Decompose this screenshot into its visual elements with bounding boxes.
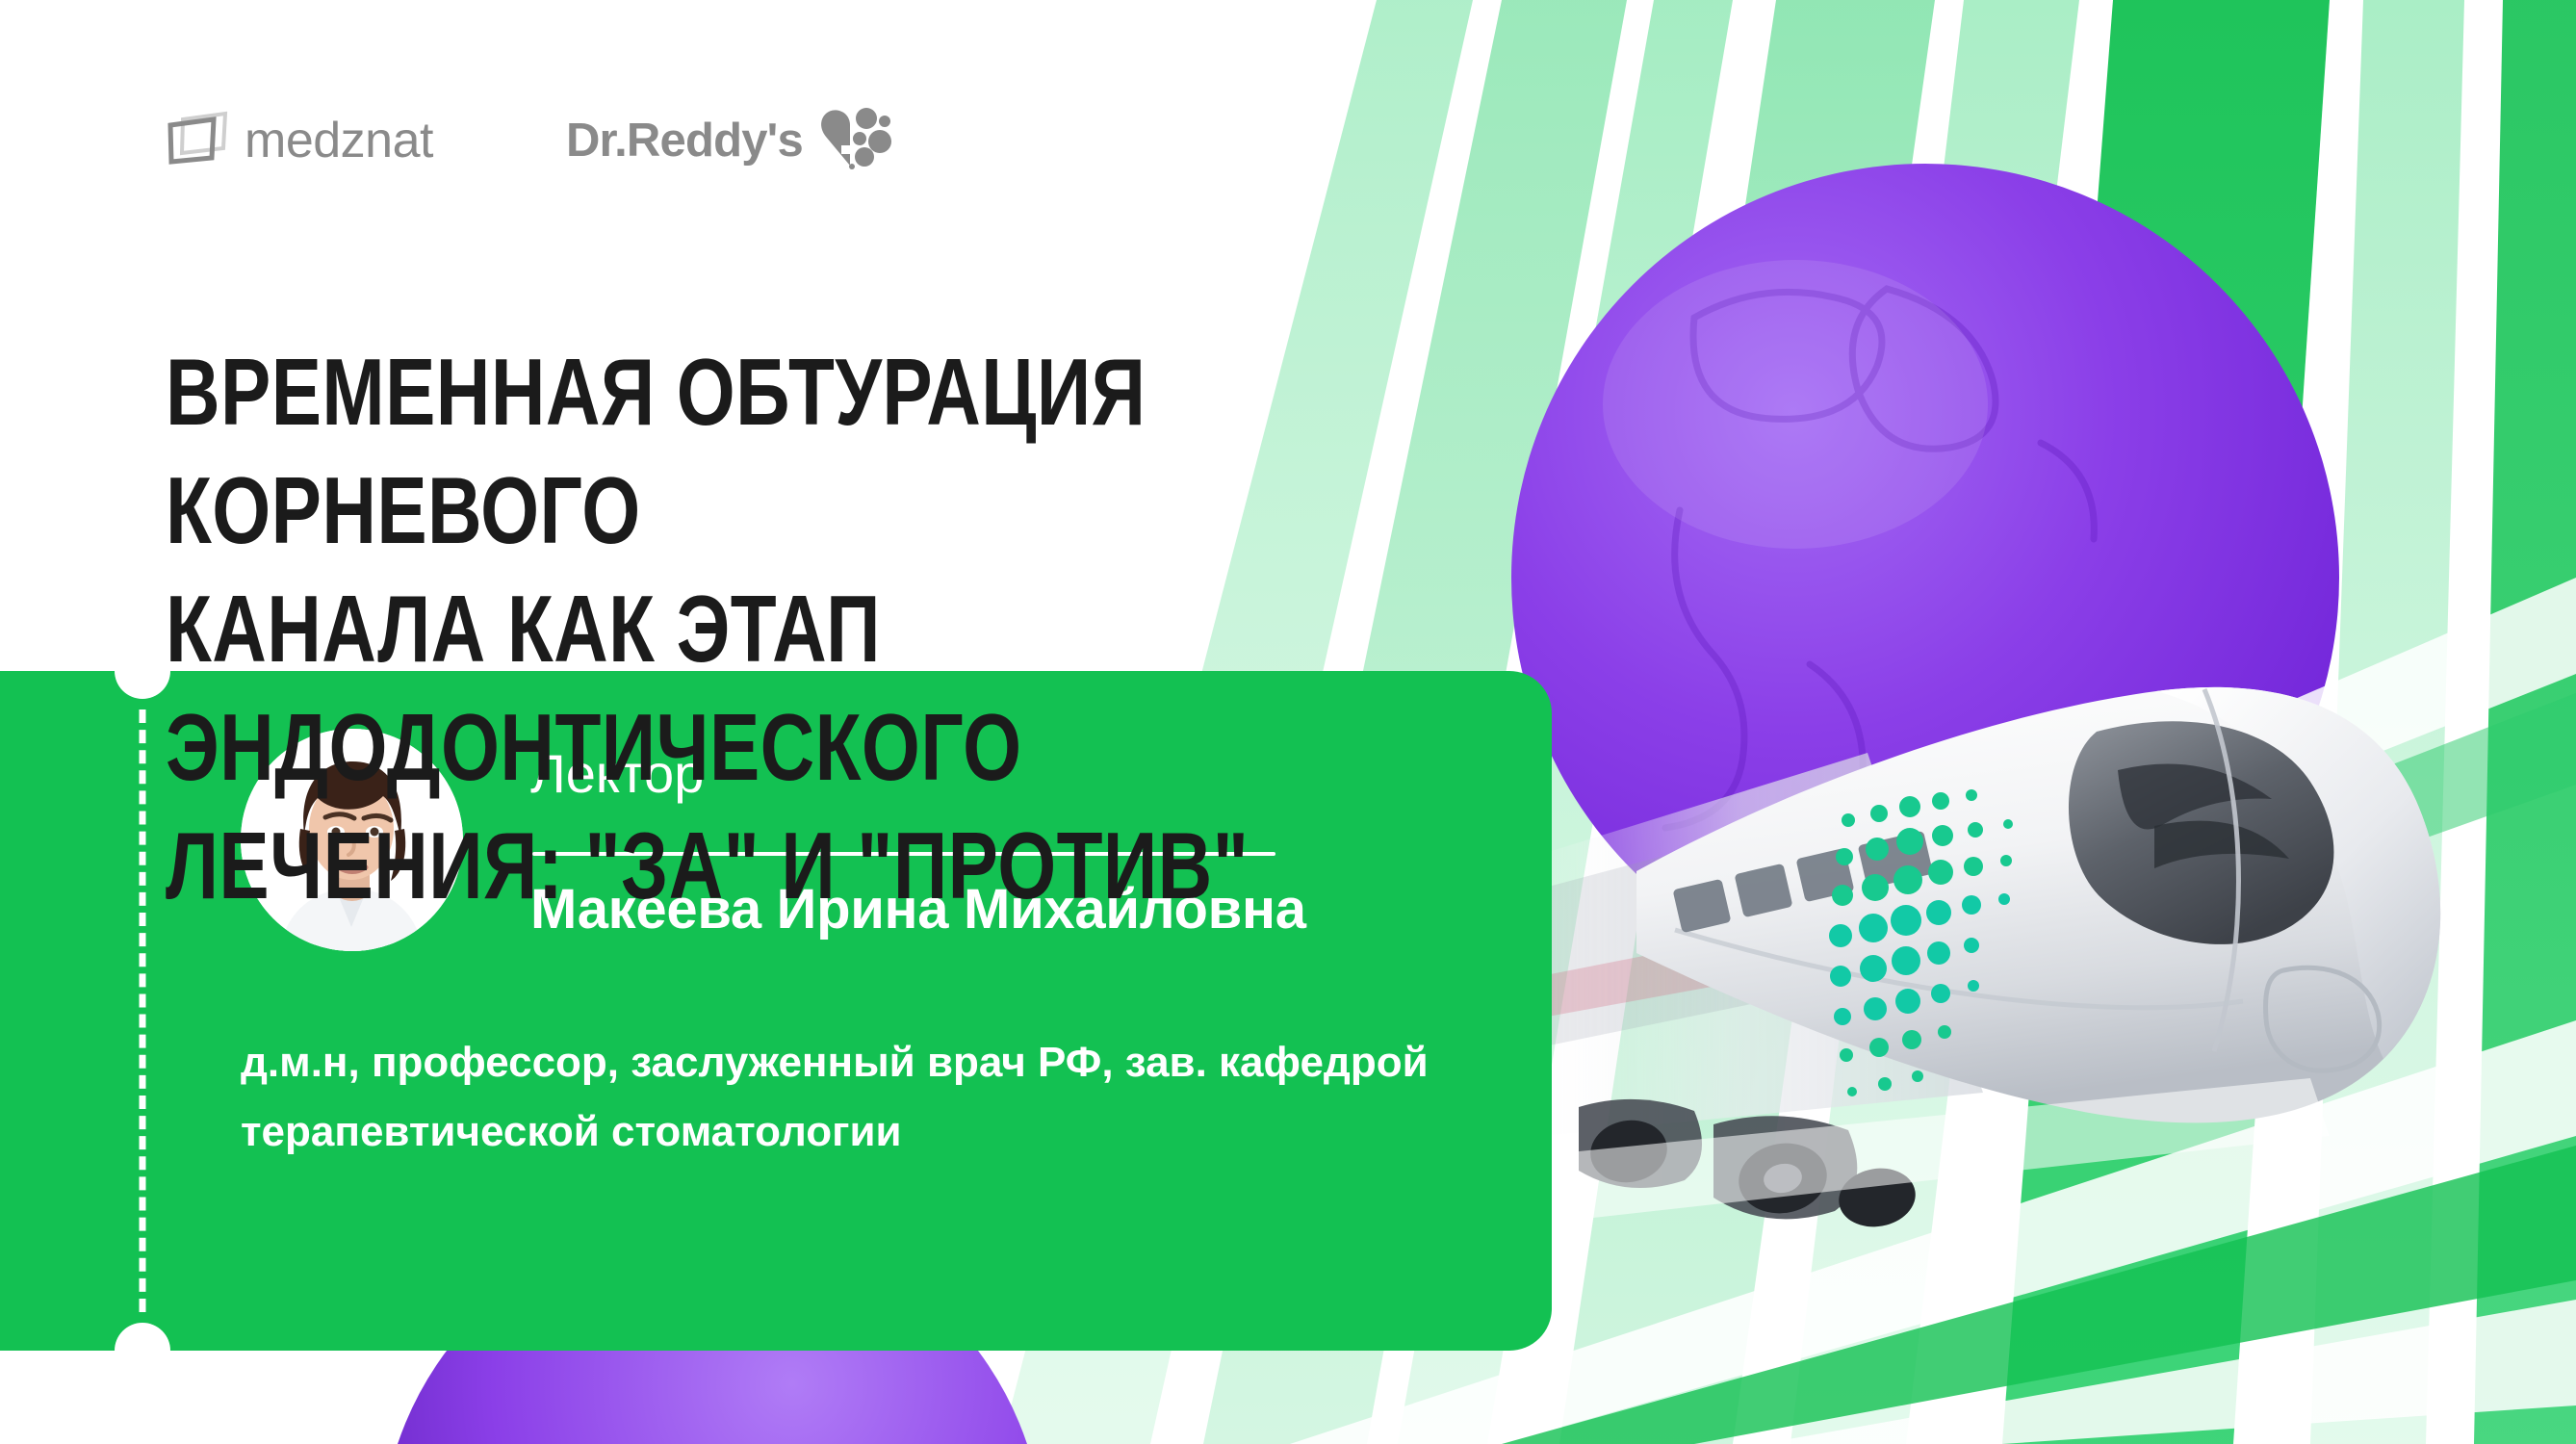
dr-reddys-logo[interactable]: Dr.Reddy's bbox=[566, 106, 891, 174]
ticket-perforation-line bbox=[140, 709, 146, 1312]
lecturer-bio: д.м.н, профессор, заслуженный врач РФ, з… bbox=[241, 1028, 1511, 1167]
medznat-wordmark: medznat bbox=[245, 112, 433, 169]
pages-icon bbox=[166, 110, 231, 170]
slide-title: Временная обтурация корневого канала как… bbox=[166, 333, 1490, 925]
heart-dots-icon bbox=[816, 106, 891, 174]
webinar-title-slide: medznat Dr.Reddy's Временная обтурация к… bbox=[0, 0, 2576, 1444]
logo-row: medznat Dr.Reddy's bbox=[166, 106, 891, 174]
dr-reddys-wordmark: Dr.Reddy's bbox=[566, 114, 803, 168]
medznat-logo[interactable]: medznat bbox=[166, 110, 433, 170]
